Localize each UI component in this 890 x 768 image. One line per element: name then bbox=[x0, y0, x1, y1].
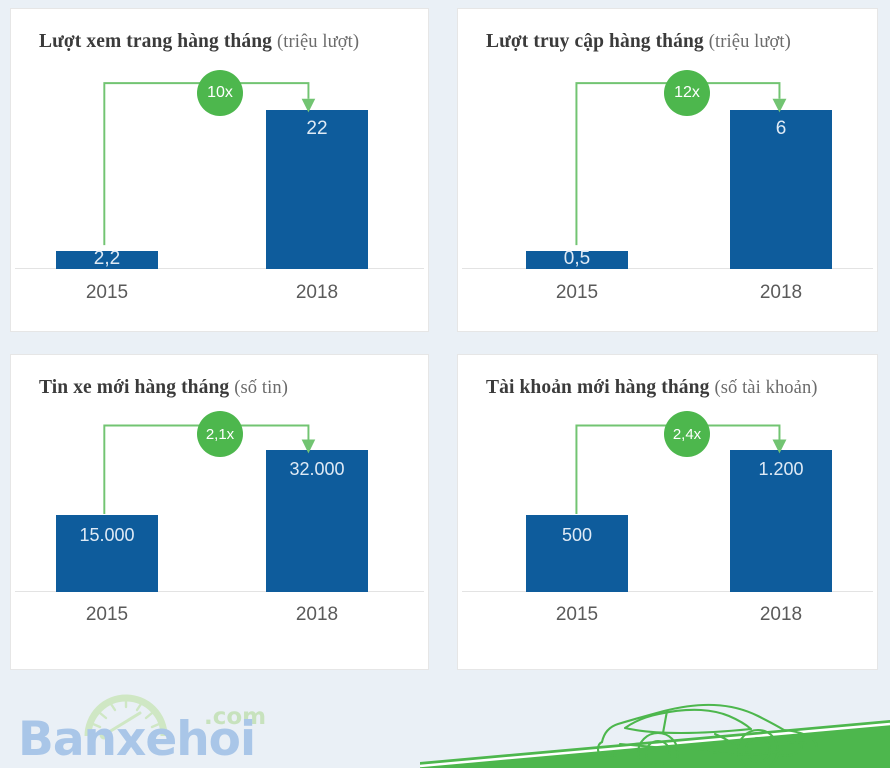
chart-panel-listings: Tin xe mới hàng tháng (số tin) 15.000 32… bbox=[10, 354, 429, 670]
multiplier-label: 10x bbox=[207, 84, 233, 102]
bar-chart: 2,2 22 2015 2018 10x bbox=[11, 9, 428, 331]
bar-value-2018: 1.200 bbox=[730, 459, 832, 480]
bar-chart: 0,5 6 2015 2018 12x bbox=[458, 9, 877, 331]
bar-chart: 500 1.200 2015 2018 2,4x bbox=[458, 355, 877, 669]
x-label-2018: 2018 bbox=[730, 604, 832, 626]
bar-value-2018: 32.000 bbox=[266, 459, 368, 480]
infographic-root: Lượt xem trang hàng tháng (triệu lượt) 2… bbox=[0, 0, 890, 768]
bar-value-2018: 22 bbox=[266, 118, 368, 140]
x-label-2015: 2015 bbox=[526, 604, 628, 626]
bar-value-2018: 6 bbox=[730, 118, 832, 140]
x-label-2018: 2018 bbox=[730, 282, 832, 304]
bar-value-2015: 0,5 bbox=[526, 248, 628, 270]
bar-value-2015: 15.000 bbox=[56, 525, 158, 546]
x-label-2018: 2018 bbox=[266, 282, 368, 304]
site-logo[interactable]: .com Banxehoi bbox=[18, 688, 318, 766]
chart-grid: Lượt xem trang hàng tháng (triệu lượt) 2… bbox=[0, 0, 890, 684]
multiplier-label: 2,1x bbox=[206, 426, 234, 443]
multiplier-badge: 12x bbox=[664, 70, 710, 116]
multiplier-badge: 2,1x bbox=[197, 411, 243, 457]
bar-value-2015: 2,2 bbox=[56, 248, 158, 270]
x-label-2018: 2018 bbox=[266, 604, 368, 626]
bar-chart: 15.000 32.000 2015 2018 2,1x bbox=[11, 355, 428, 669]
car-road-graphic bbox=[420, 684, 890, 768]
multiplier-label: 12x bbox=[674, 84, 700, 102]
bar-value-2015: 500 bbox=[526, 525, 628, 546]
x-label-2015: 2015 bbox=[526, 282, 628, 304]
chart-panel-accounts: Tài khoản mới hàng tháng (số tài khoản) … bbox=[457, 354, 878, 670]
chart-panel-pageviews: Lượt xem trang hàng tháng (triệu lượt) 2… bbox=[10, 8, 429, 332]
chart-panel-visits: Lượt truy cập hàng tháng (triệu lượt) 0,… bbox=[457, 8, 878, 332]
x-label-2015: 2015 bbox=[56, 282, 158, 304]
logo-wordmark: Banxehoi bbox=[18, 712, 255, 767]
x-label-2015: 2015 bbox=[56, 604, 158, 626]
multiplier-badge: 2,4x bbox=[664, 411, 710, 457]
footer: .com Banxehoi bbox=[0, 684, 890, 768]
multiplier-badge: 10x bbox=[197, 70, 243, 116]
multiplier-label: 2,4x bbox=[673, 426, 701, 443]
